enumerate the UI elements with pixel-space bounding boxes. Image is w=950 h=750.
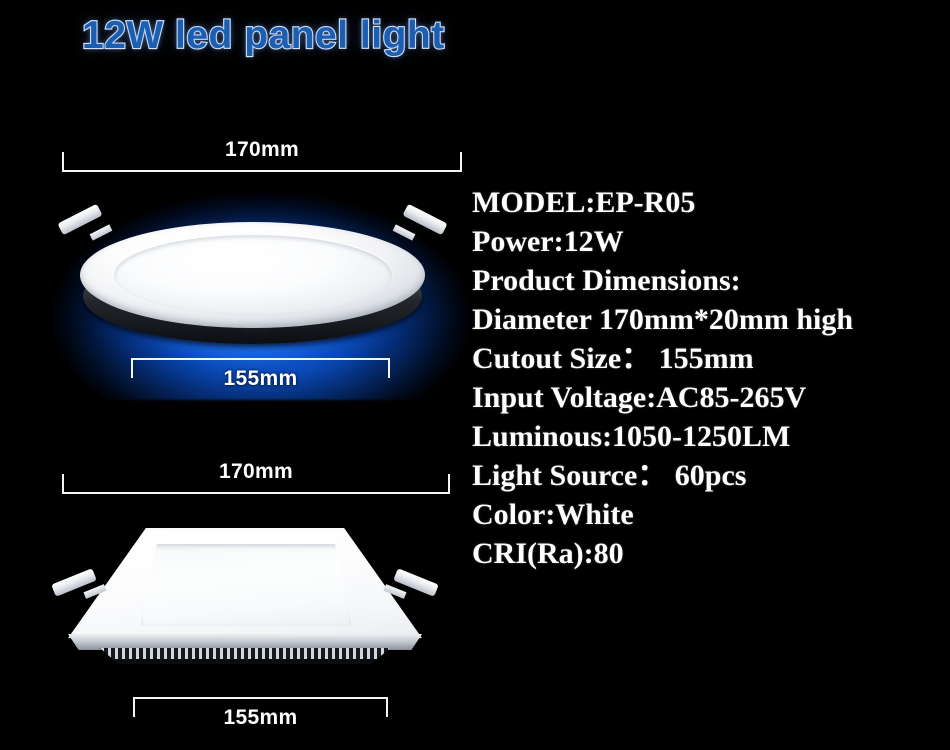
dimension-bar xyxy=(131,358,390,360)
dimension-bar xyxy=(133,697,388,699)
spec-light-source: Light Source： 60pcs xyxy=(472,456,950,495)
page-title: 12W led panel light xyxy=(82,14,445,58)
square-led-panel-image xyxy=(68,528,422,673)
square-panel-heatsink-fins xyxy=(94,648,396,664)
square-panel-diffuser xyxy=(140,544,352,626)
dimension-bar xyxy=(62,492,450,494)
round-panel-clip-arm-right xyxy=(393,224,416,240)
square-cutout-dimension-label: 155mm xyxy=(133,706,388,730)
spec-diameter: Diameter 170mm*20mm high xyxy=(472,300,950,339)
round-led-panel-image xyxy=(80,222,425,344)
spec-luminous: Luminous:1050-1250LM xyxy=(472,417,950,456)
spec-model: MODEL:EP-R05 xyxy=(472,183,950,222)
square-panel-edge xyxy=(68,634,422,650)
product-spec-image: 12W led panel light 170mm 155mm 170mm xyxy=(0,0,950,750)
spec-cri: CRI(Ra):80 xyxy=(472,534,950,573)
round-panel-clip-arm-left xyxy=(90,224,113,240)
spec-cutout-size: Cutout Size： 155mm xyxy=(472,339,950,378)
spec-color: Color:White xyxy=(472,495,950,534)
square-outer-dimension-label: 170mm xyxy=(62,460,450,484)
spec-dimensions-heading: Product Dimensions: xyxy=(472,261,950,300)
round-outer-dimension-label: 170mm xyxy=(62,138,462,162)
round-cutout-dimension-label: 155mm xyxy=(131,367,390,391)
specification-list: MODEL:EP-R05 Power:12W Product Dimension… xyxy=(472,183,950,573)
dimension-bar xyxy=(62,170,462,172)
spec-power: Power:12W xyxy=(472,222,950,261)
round-panel-diffuser xyxy=(114,235,392,315)
spec-input-voltage: Input Voltage:AC85-265V xyxy=(472,378,950,417)
